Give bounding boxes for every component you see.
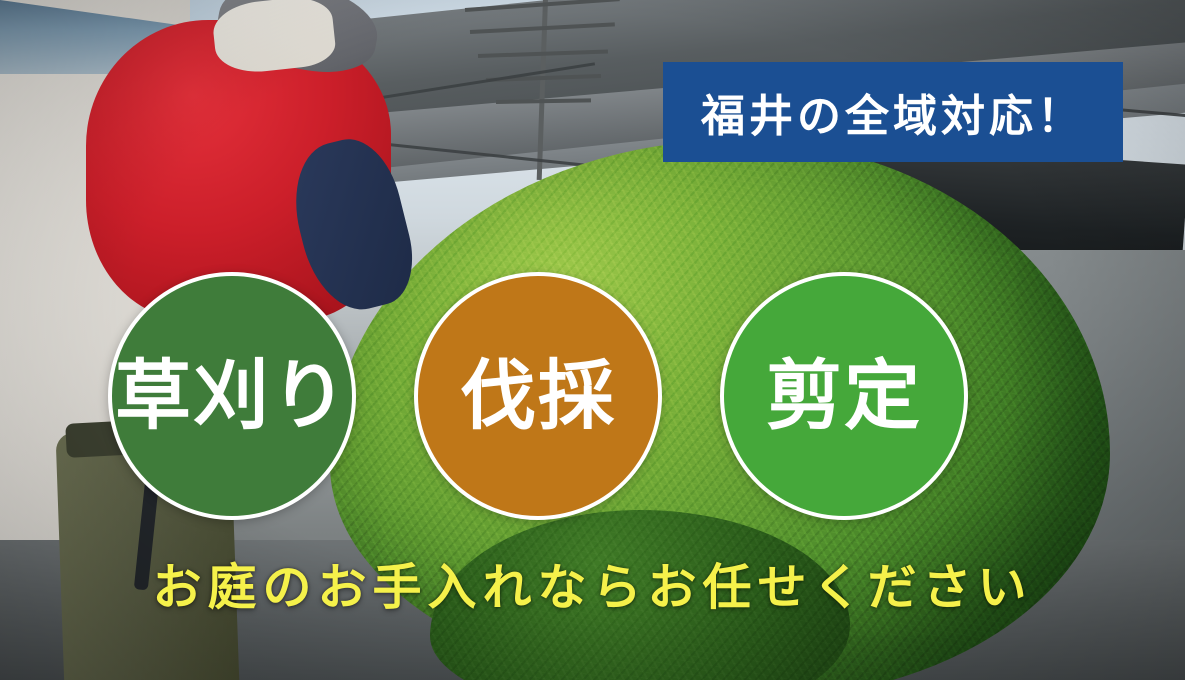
service-circle-pruning-label: 剪定 — [766, 358, 922, 434]
service-circle-mowing-label: 草刈り — [115, 358, 349, 434]
service-circle-mowing[interactable]: 草刈り — [108, 272, 356, 520]
service-circle-felling[interactable]: 伐採 — [414, 272, 662, 520]
service-circle-felling-label: 伐採 — [460, 358, 616, 434]
service-circle-pruning[interactable]: 剪定 — [720, 272, 968, 520]
tagline-text: お庭のお手入れならお任せください — [0, 548, 1185, 619]
coverage-badge: 福井の全域対応！ — [663, 62, 1123, 162]
coverage-badge-label: 福井の全域対応！ — [701, 80, 1085, 144]
promotional-banner: 福井の全域対応！ 草刈り 伐採 剪定 お庭のお手入れならお任せください — [0, 0, 1185, 680]
service-circle-group: 草刈り 伐採 剪定 — [108, 272, 968, 520]
